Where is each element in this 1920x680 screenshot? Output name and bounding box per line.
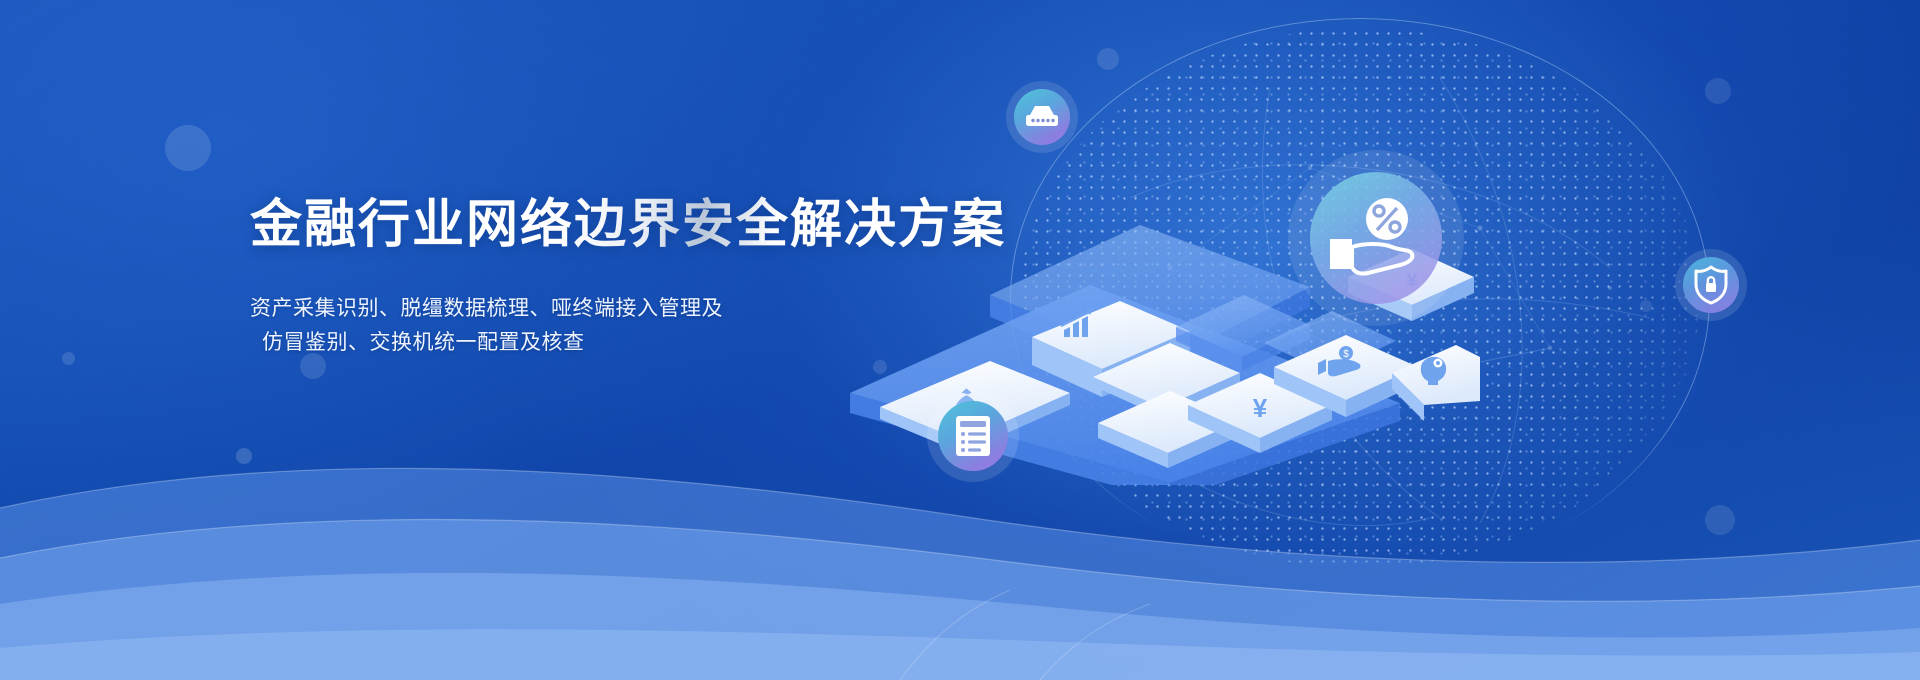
hand-percent-icon [1324,195,1428,281]
shield-badge [1675,249,1747,321]
router-icon [1023,102,1061,132]
shield-lock-icon [1693,265,1729,305]
hand-percent-badge [1288,150,1464,326]
banner-copy: 金融行业网络边界安全解决方案 资产采集识别、脱缰数据梳理、哑终端接入管理及 仿冒… [250,195,1070,360]
banner-subtitle: 资产采集识别、脱缰数据梳理、哑终端接入管理及 仿冒鉴别、交换机统一配置及核查 [250,292,1070,360]
page-title: 金融行业网络边界安全解决方案 [250,195,1070,256]
bokeh-circle [62,352,75,365]
router-badge [1006,81,1078,153]
bokeh-circle [165,125,211,171]
bokeh-circle [1097,48,1119,70]
bokeh-circle [1705,78,1731,104]
subtitle-line-2: 仿冒鉴别、交换机统一配置及核查 [262,326,1070,360]
subtitle-line-1: 资产采集识别、脱缰数据梳理、哑终端接入管理及 [250,292,1070,326]
bokeh-circle [1640,300,1652,312]
svg-text:$: $ [1343,349,1349,360]
finance-security-banner: ¥ [0,0,1920,680]
document-list-icon [952,413,994,459]
